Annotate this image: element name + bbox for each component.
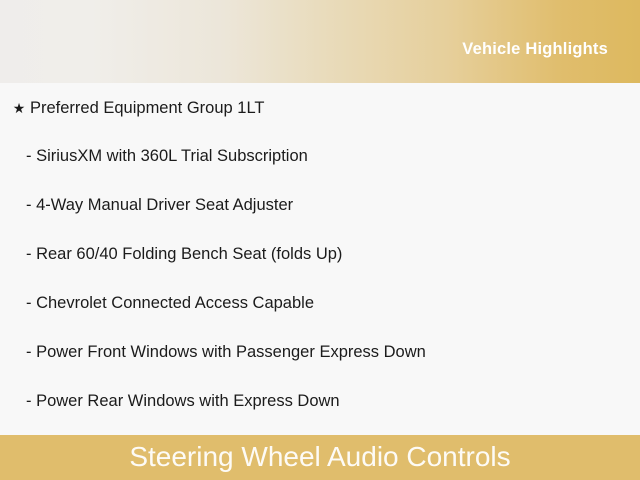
vehicle-highlights-slide: Vehicle Highlights ★ Preferred Equipment… [0, 0, 640, 480]
list-item-label: - Power Rear Windows with Express Down [26, 377, 340, 426]
caption-label: Steering Wheel Audio Controls [129, 443, 510, 473]
list-item-label: - Power Front Windows with Passenger Exp… [26, 328, 426, 377]
feature-list: ★ Preferred Equipment Group 1LT - Sirius… [0, 83, 640, 426]
list-item-label: - SiriusXM with 360L Trial Subscription [26, 132, 308, 181]
list-item: - SiriusXM with 360L Trial Subscription [0, 132, 640, 181]
list-item: - Power Front Windows with Passenger Exp… [0, 328, 640, 377]
caption-band: Steering Wheel Audio Controls [0, 435, 640, 480]
list-item: ★ Preferred Equipment Group 1LT [0, 83, 640, 132]
list-item: - 4-Way Manual Driver Seat Adjuster [0, 181, 640, 230]
list-item-label: Preferred Equipment Group 1LT [30, 85, 264, 132]
list-item-label: - Rear 60/40 Folding Bench Seat (folds U… [26, 230, 342, 279]
star-icon: ★ [8, 85, 30, 132]
list-item-label: - Chevrolet Connected Access Capable [26, 279, 314, 328]
list-item: - Rear 60/40 Folding Bench Seat (folds U… [0, 230, 640, 279]
page-title: Vehicle Highlights [462, 24, 640, 59]
highlights-content: ★ Preferred Equipment Group 1LT - Sirius… [0, 83, 640, 480]
list-item-label: - 4-Way Manual Driver Seat Adjuster [26, 181, 293, 230]
list-item: - Chevrolet Connected Access Capable [0, 279, 640, 328]
list-item: - Power Rear Windows with Express Down [0, 377, 640, 426]
header-band: Vehicle Highlights [0, 0, 640, 83]
